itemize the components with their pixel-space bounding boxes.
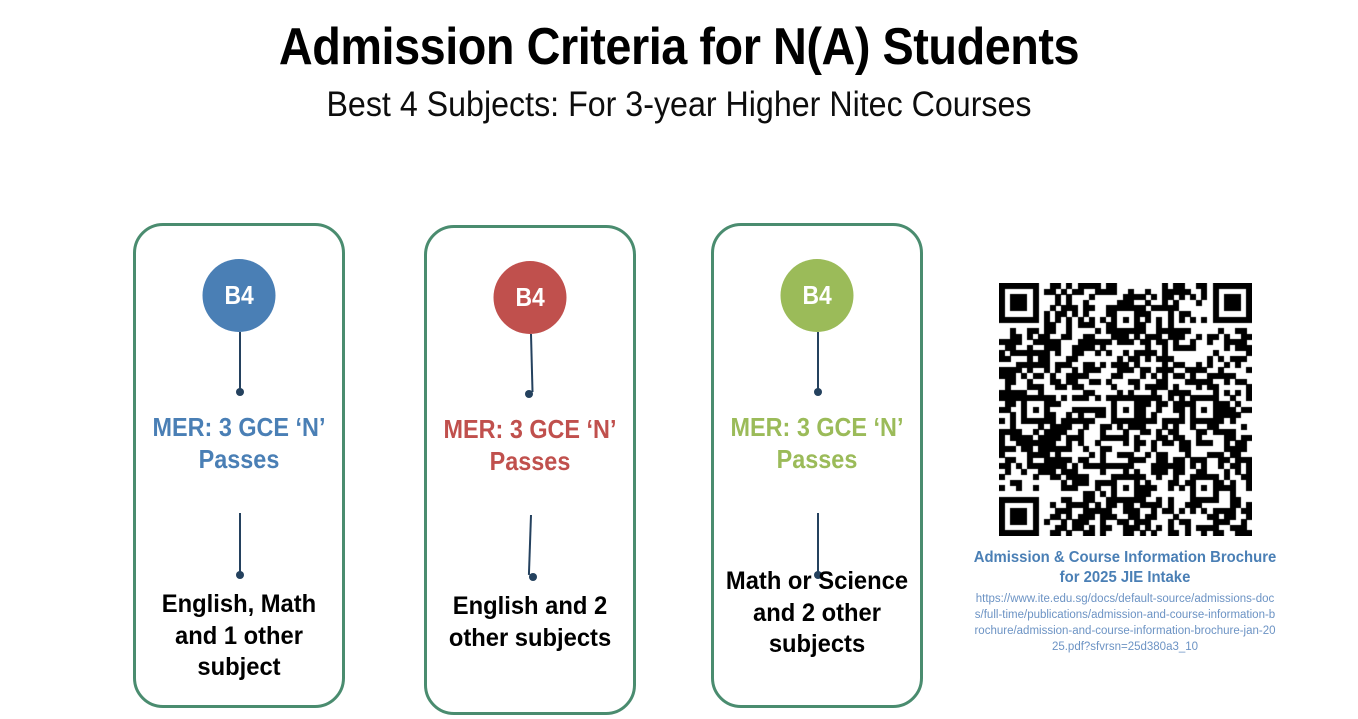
b4-badge: B4	[781, 259, 854, 332]
subjects-text: English, Math and 1 other subject	[141, 589, 337, 684]
page-title: Admission Criteria for N(A) Students	[68, 18, 1290, 76]
qr-code-icon[interactable]	[999, 283, 1252, 536]
criteria-card: B4 MER: 3 GCE ‘N’ Passes English, Math a…	[133, 223, 345, 708]
qr-caption: Admission & Course Information Brochure …	[962, 548, 1288, 588]
b4-badge: B4	[203, 259, 276, 332]
mer-text: MER: 3 GCE ‘N’ Passes	[724, 412, 909, 475]
title-block: Admission Criteria for N(A) Students Bes…	[0, 18, 1358, 126]
page-subtitle: Best 4 Subjects: For 3-year Higher Nitec…	[54, 84, 1303, 126]
subjects-text: Math or Science and 2 other subjects	[719, 566, 915, 661]
qr-info-block: Admission & Course Information Brochure …	[955, 283, 1295, 656]
criteria-card: B4 MER: 3 GCE ‘N’ Passes English and 2 o…	[424, 225, 636, 715]
b4-badge-label: B4	[802, 280, 831, 311]
criteria-card: B4 MER: 3 GCE ‘N’ Passes Math or Science…	[711, 223, 923, 708]
mer-text: MER: 3 GCE ‘N’ Passes	[146, 412, 331, 475]
mer-text: MER: 3 GCE ‘N’ Passes	[437, 414, 622, 477]
qr-url[interactable]: https://www.ite.edu.sg/docs/default-sour…	[955, 592, 1295, 655]
b4-badge-label: B4	[515, 282, 544, 313]
subjects-text: English and 2 other subjects	[432, 591, 628, 654]
b4-badge-label: B4	[224, 280, 253, 311]
b4-badge: B4	[494, 261, 567, 334]
